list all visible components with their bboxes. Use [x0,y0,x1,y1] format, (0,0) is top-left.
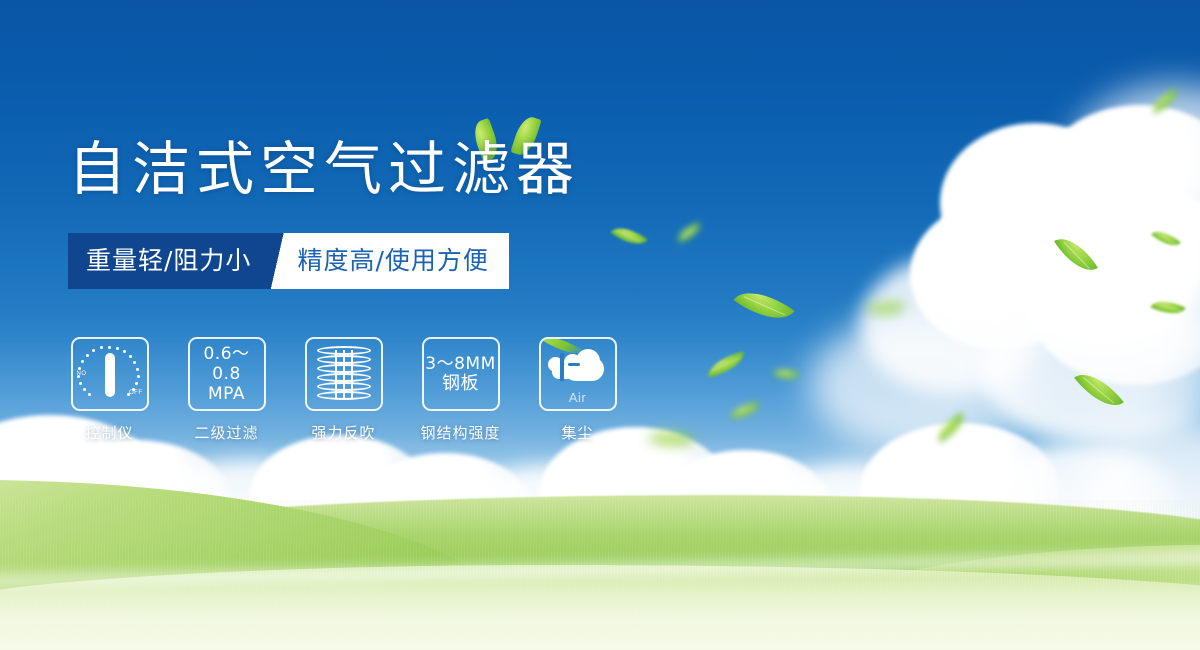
leaf-icon [1150,294,1185,322]
air-cloud-icon: Air [546,345,610,403]
cloud-right-cumulus [900,105,1200,435]
subtitle-left: 重量轻/阻力小 [68,233,265,289]
leaf-icon [1148,88,1181,113]
leaf-icon [867,296,906,320]
feature-icon-box [305,337,383,411]
hill-back [0,495,1200,650]
feature-label: 强力反吹 [311,422,375,443]
air-label: Air [546,390,610,405]
bottom-fade [0,580,1200,650]
hill-left [0,480,520,650]
meadow-foreground [0,565,1200,650]
feature-label: 集尘 [561,422,593,443]
leaf-icon [733,278,794,333]
feature-icon-box: 3～8MM 钢板 [422,337,500,411]
leaf-icon [1074,363,1124,417]
leaf-icon [773,363,800,384]
feature-icon-box: Air [539,337,617,411]
grass-texture [0,500,1200,650]
feature-text-line2: 钢板 [425,374,495,394]
feature-text-line1: 0.6～0.8 [190,344,264,384]
feature-item-steel[interactable]: 3～8MM 钢板 钢结构强度 [419,337,502,443]
feature-item-blowback[interactable]: 强力反吹 [302,337,385,443]
grass-path-highlight [0,543,1200,594]
leaf-icon [933,413,970,443]
feature-text-line1: 3～8MM [425,354,495,374]
leaf-icon [648,423,696,455]
product-banner: 自洁式空气过滤器 重量轻/阻力小 精度高/使用方便 [0,0,1200,650]
feature-label: 二级过滤 [194,422,258,443]
subtitle-divider [265,233,291,289]
feature-icon-box: NO OFF [71,337,149,411]
subtitle-bar: 重量轻/阻力小 精度高/使用方便 [68,233,509,289]
feature-icon-box: 0.6～0.8 MPA [188,337,266,411]
gauge-label-off: OFF [129,390,143,396]
gauge-icon: NO OFF [77,344,143,404]
leaf-icon [705,351,748,377]
feature-item-pressure[interactable]: 0.6～0.8 MPA 二级过滤 [185,337,268,443]
page-title: 自洁式空气过滤器 [68,140,580,198]
gauge-label-no: NO [77,371,87,377]
leaf-icon [1151,225,1181,253]
subtitle-right: 精度高/使用方便 [291,233,508,289]
leaf-icon [1054,229,1098,280]
hill-right [740,545,1200,650]
feature-label: 钢结构强度 [420,422,500,443]
feature-item-dust[interactable]: Air 集尘 [536,337,619,443]
feature-item-controller[interactable]: NO OFF 控制仪 [68,337,151,443]
feature-list: NO OFF 控制仪 0.6～0.8 MPA 二级过滤 [68,337,619,443]
gauge-needle [105,353,115,397]
feature-text-line2: MPA [190,384,264,404]
feature-label: 控制仪 [85,422,133,443]
leaf-icon [729,402,761,419]
leaf-icon [611,220,648,253]
leaf-icon [675,222,704,242]
filter-stack-icon [317,346,371,402]
